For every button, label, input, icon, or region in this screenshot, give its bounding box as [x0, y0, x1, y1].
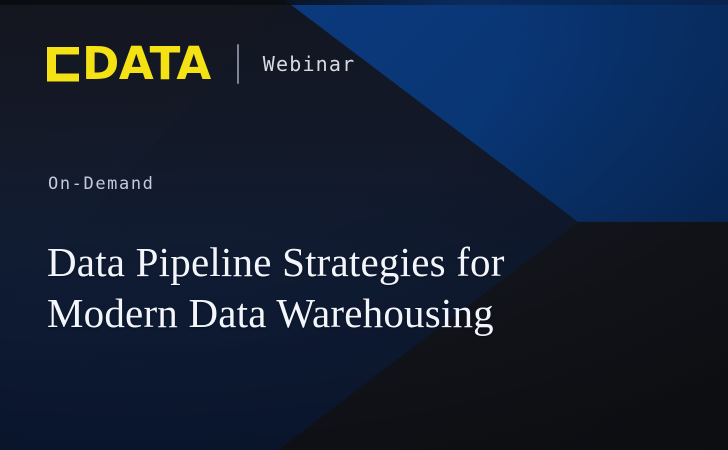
brand-bar: DATA Webinar [47, 42, 355, 86]
brand-kicker-label: Webinar [263, 52, 356, 76]
logo-wordmark-text: DATA [82, 42, 211, 86]
logo-c-mark [47, 47, 79, 82]
page-title-line-1: Data Pipeline Strategies for [47, 237, 647, 288]
page-title-line-2: Modern Data Warehousing [47, 288, 647, 339]
webinar-promo-card: DATA Webinar On-Demand Data Pipeline Str… [0, 0, 728, 450]
brand-divider-icon [237, 44, 239, 84]
content-type-eyebrow: On-Demand [48, 174, 155, 194]
cdata-logo[interactable]: DATA [47, 42, 211, 86]
card-content: DATA Webinar On-Demand Data Pipeline Str… [0, 0, 728, 450]
page-title: Data Pipeline Strategies for Modern Data… [47, 237, 647, 339]
